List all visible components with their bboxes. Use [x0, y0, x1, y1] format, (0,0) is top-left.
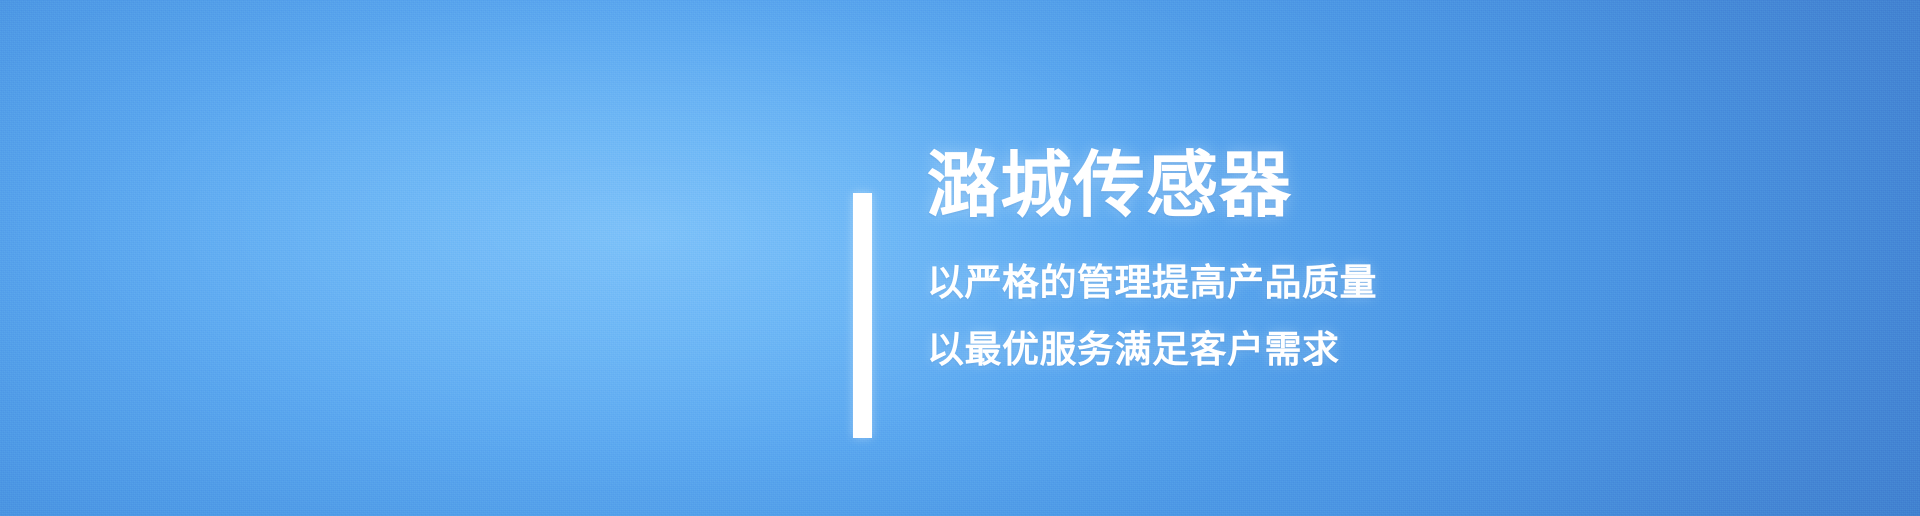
vertical-accent-bar: [853, 193, 872, 438]
hero-banner: 潞城传感器 以严格的管理提高产品质量 以最优服务满足客户需求: [0, 0, 1920, 516]
hero-text-group: 潞城传感器 以严格的管理提高产品质量 以最优服务满足客户需求: [927, 150, 1377, 438]
banner-subtitle-1: 以严格的管理提高产品质量: [927, 264, 1377, 301]
hero-content: 潞城传感器 以严格的管理提高产品质量 以最优服务满足客户需求: [853, 150, 1377, 438]
banner-subtitle-2: 以最优服务满足客户需求: [927, 331, 1377, 368]
banner-title: 潞城传感器: [927, 150, 1377, 222]
